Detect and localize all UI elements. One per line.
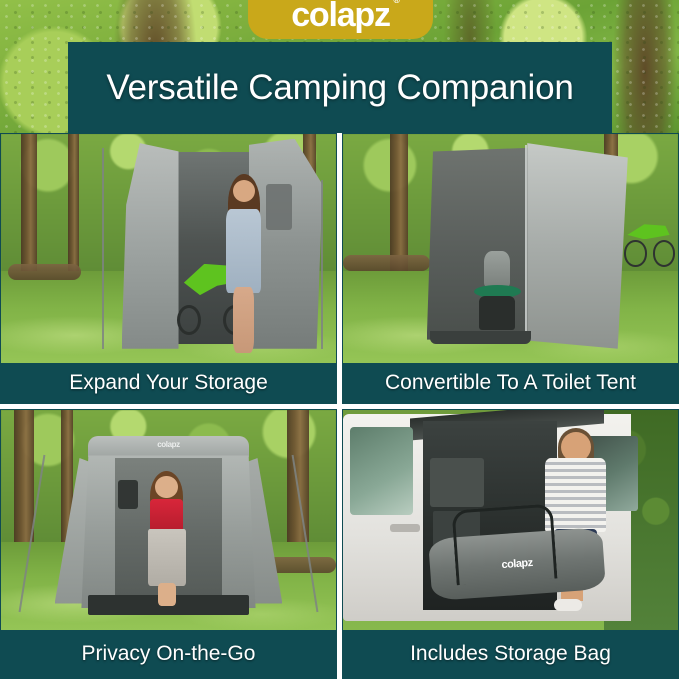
van-cabinet <box>430 458 484 507</box>
toilet-tank <box>484 251 510 287</box>
photo-storage-bag: colapz <box>343 410 678 631</box>
tent-canopy: colapz <box>88 436 249 458</box>
feature-panel-toilet-tent: Convertible To A Toilet Tent <box>342 133 679 404</box>
caption-bar-storage-bag: Includes Storage Bag <box>343 630 678 678</box>
tent-brand-label: colapz <box>88 440 249 449</box>
page-title: Versatile Camping Companion <box>106 68 573 108</box>
grey-towel <box>148 529 186 585</box>
caption-text: Expand Your Storage <box>69 371 268 395</box>
bike-wheel <box>177 305 201 335</box>
van-door-window <box>350 427 414 515</box>
toilet-base <box>479 296 515 330</box>
feature-grid: Expand Your Storage <box>0 133 679 679</box>
hanging-shower-bag <box>118 480 138 509</box>
guy-line <box>321 180 323 349</box>
title-banner: Versatile Camping Companion <box>68 42 612 133</box>
registered-trademark-icon: ® <box>393 0 398 5</box>
caption-bar-expand-storage: Expand Your Storage <box>1 363 336 403</box>
denim-dress <box>226 209 261 292</box>
photo-expand-storage <box>1 134 336 363</box>
red-top <box>150 499 183 532</box>
feature-panel-storage-bag: colapz Includes Storage Bag <box>342 409 679 679</box>
product-feature-image: Versatile Camping Companion colapz ® <box>0 0 679 679</box>
hero-header: Versatile Camping Companion colapz ® <box>0 0 679 133</box>
photo-privacy-tent: colapz <box>1 410 336 631</box>
fallen-log <box>8 264 82 280</box>
tree-trunk <box>21 134 37 280</box>
photo-toilet-tent <box>343 134 678 363</box>
bike-wheel <box>653 240 675 266</box>
tent-zipper <box>525 145 527 342</box>
caption-bar-privacy: Privacy On-the-Go <box>1 630 336 678</box>
tent-pole <box>102 148 104 349</box>
tent-storage-pocket <box>266 184 293 230</box>
tent-floor <box>430 331 531 345</box>
tent-side-panel <box>527 143 628 349</box>
portable-camping-toilet <box>474 271 521 330</box>
striped-tshirt <box>545 458 606 532</box>
caption-text: Convertible To A Toilet Tent <box>385 371 636 395</box>
person-woman <box>145 476 189 604</box>
bike-frame <box>627 224 669 239</box>
fallen-log <box>343 255 430 271</box>
brand-logo-text: colapz ® <box>291 0 390 32</box>
bag-carry-strap <box>451 503 556 585</box>
person-woman <box>222 180 266 354</box>
trainer <box>554 599 582 611</box>
caption-text: Includes Storage Bag <box>410 642 611 666</box>
parked-bikes <box>624 216 674 266</box>
bike-wheel <box>624 240 646 266</box>
brand-logo-badge: colapz ® <box>248 0 433 39</box>
feature-panel-expand-storage: Expand Your Storage <box>0 133 337 404</box>
brand-logo-wordmark: colapz <box>291 0 390 34</box>
van-door-handle <box>390 524 420 532</box>
legs <box>158 583 175 606</box>
tree-trunk <box>68 134 79 280</box>
feature-panel-privacy: colapz Privacy On-the-Go <box>0 409 337 679</box>
caption-text: Privacy On-the-Go <box>82 642 256 666</box>
legs <box>233 287 254 353</box>
caption-bar-toilet-tent: Convertible To A Toilet Tent <box>343 363 678 403</box>
